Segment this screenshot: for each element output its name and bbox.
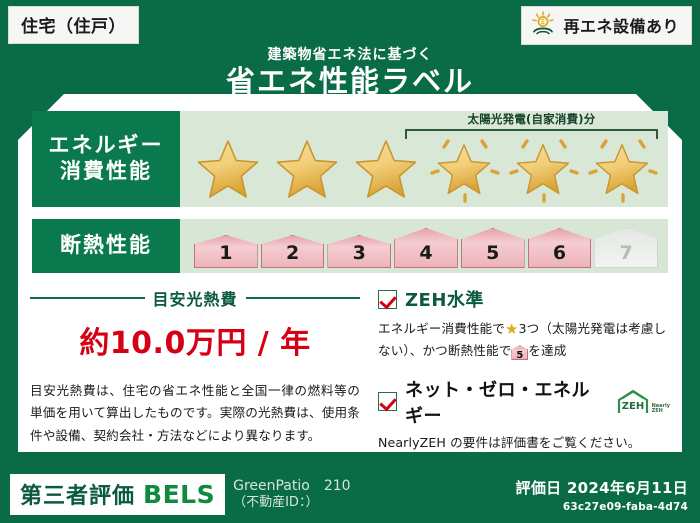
zeh-standard-title: ZEH水準 <box>405 286 484 312</box>
grade-block: 6 <box>528 228 592 268</box>
evaluation-date: 評価日 2024年6月11日 <box>516 477 688 498</box>
zeh-standard-description: エネルギー消費性能で★3つ（太陽光発電は考慮しない）、かつ断熱性能で5を達成 <box>378 317 670 362</box>
property-id: （不動産ID：） <box>233 495 350 511</box>
solar-sun-icon <box>530 11 556 39</box>
rule-right <box>246 297 361 299</box>
solar-caption: 太陽光発電(自家消費)分 <box>407 111 656 127</box>
star-icon <box>275 139 339 200</box>
bels-en-label: BELS <box>143 480 215 509</box>
grade-badge-icon: 5 <box>511 345 528 360</box>
zeh-house-icon: ZEH <box>616 389 650 415</box>
energy-label-line2: 消費性能 <box>60 159 152 185</box>
headline-title: 省エネ性能ラベル <box>0 66 700 96</box>
grade-scale: 1 2 3 4 5 6 7 <box>194 224 658 268</box>
zeh-desc-part1: エネルギー消費性能で <box>378 321 505 336</box>
zeh-desc-part3: を達成 <box>528 343 566 358</box>
energy-label-root: 住宅（住戸） 再エネ設備あり 建築物省エネ法に基づく 省エネ性能ラベル <box>0 0 700 523</box>
utility-cost-heading: 目安光熱費 <box>30 286 360 310</box>
property-info: GreenPatio 210 （不動産ID：） <box>233 478 350 512</box>
star-6-solar <box>586 131 660 203</box>
energy-performance-row: エネルギー 消費性能 太陽光発電(自家消費)分 <box>32 111 668 207</box>
grade-block: 4 <box>394 228 458 268</box>
star-icon <box>196 139 260 200</box>
star-4-solar <box>428 131 502 203</box>
grade-block: 3 <box>327 235 391 268</box>
insulation-performance-body: 1 2 3 4 5 6 7 <box>180 219 668 273</box>
page-title: 建築物省エネ法に基づく 省エネ性能ラベル <box>0 44 700 96</box>
grade-block: 5 <box>461 228 525 268</box>
sparkle-icon <box>428 131 502 203</box>
footer-right: 評価日 2024年6月11日 63c27e09-faba-4d74 <box>516 477 688 513</box>
star-icon: ★ <box>505 320 519 338</box>
zeh-nearly-label: Nearly ZEH <box>652 404 670 415</box>
checkbox-checked-icon[interactable] <box>378 290 397 309</box>
sparkle-icon <box>586 131 660 203</box>
grade-block-inactive: 7 <box>594 228 658 268</box>
bels-jp-label: 第三者評価 <box>20 478 135 510</box>
svg-text:ZEH: ZEH <box>621 401 643 412</box>
insulation-performance-row: 断熱性能 1 2 3 4 5 6 7 <box>32 219 668 273</box>
net-zero-energy-check-row[interactable]: ネット・ゼロ・エネルギー ZEH Nearly ZEH <box>378 376 670 428</box>
zeh-nearly-line2: ZEH <box>652 408 663 414</box>
star-rating <box>192 131 660 203</box>
rule-left <box>30 297 145 299</box>
star-icon <box>354 139 418 200</box>
renewable-equipment-badge: 再エネ設備あり <box>521 6 692 45</box>
star-1 <box>192 131 266 203</box>
star-2 <box>271 131 345 203</box>
checkbox-checked-icon[interactable] <box>378 392 397 411</box>
sparkle-icon <box>507 131 581 203</box>
headline-subtitle: 建築物省エネ法に基づく <box>0 44 700 64</box>
utility-cost-block: 目安光熱費 約10.0万円 / 年 目安光熱費は、住宅の省エネ性能と全国一律の燃… <box>30 286 360 447</box>
utility-cost-amount: 約10.0万円 / 年 <box>30 318 360 362</box>
star-5-solar <box>507 131 581 203</box>
grade-block: 2 <box>261 235 325 268</box>
energy-performance-body: 太陽光発電(自家消費)分 <box>180 111 668 207</box>
renewable-badge-label: 再エネ設備あり <box>563 13 679 37</box>
star-3 <box>350 131 424 203</box>
evaluation-uid: 63c27e09-faba-4d74 <box>516 501 688 513</box>
certification-checks: ZEH水準 エネルギー消費性能で★3つ（太陽光発電は考慮しない）、かつ断熱性能で… <box>378 286 670 453</box>
utility-cost-heading-text: 目安光熱費 <box>153 286 238 310</box>
utility-cost-note: 目安光熱費は、住宅の省エネ性能と全国一律の燃料等の単価を用いて算出したものです。… <box>30 380 360 447</box>
zeh-logo: ZEH Nearly ZEH <box>616 389 670 415</box>
property-name: GreenPatio 210 <box>233 478 350 496</box>
insulation-performance-label: 断熱性能 <box>32 219 180 273</box>
net-zero-energy-title: ネット・ゼロ・エネルギー <box>405 376 604 428</box>
zeh-standard-check-row[interactable]: ZEH水準 <box>378 286 670 312</box>
footer-left: 第三者評価 BELS GreenPatio 210 （不動産ID：） <box>10 474 351 515</box>
bels-badge: 第三者評価 BELS <box>10 474 225 515</box>
net-zero-energy-description: NearlyZEH の要件は評価書をご覧ください。 <box>378 433 670 453</box>
house-type-badge: 住宅（住戸） <box>8 6 139 44</box>
grade-block: 1 <box>194 235 258 268</box>
energy-performance-label: エネルギー 消費性能 <box>32 111 180 207</box>
energy-label-line1: エネルギー <box>49 133 164 159</box>
